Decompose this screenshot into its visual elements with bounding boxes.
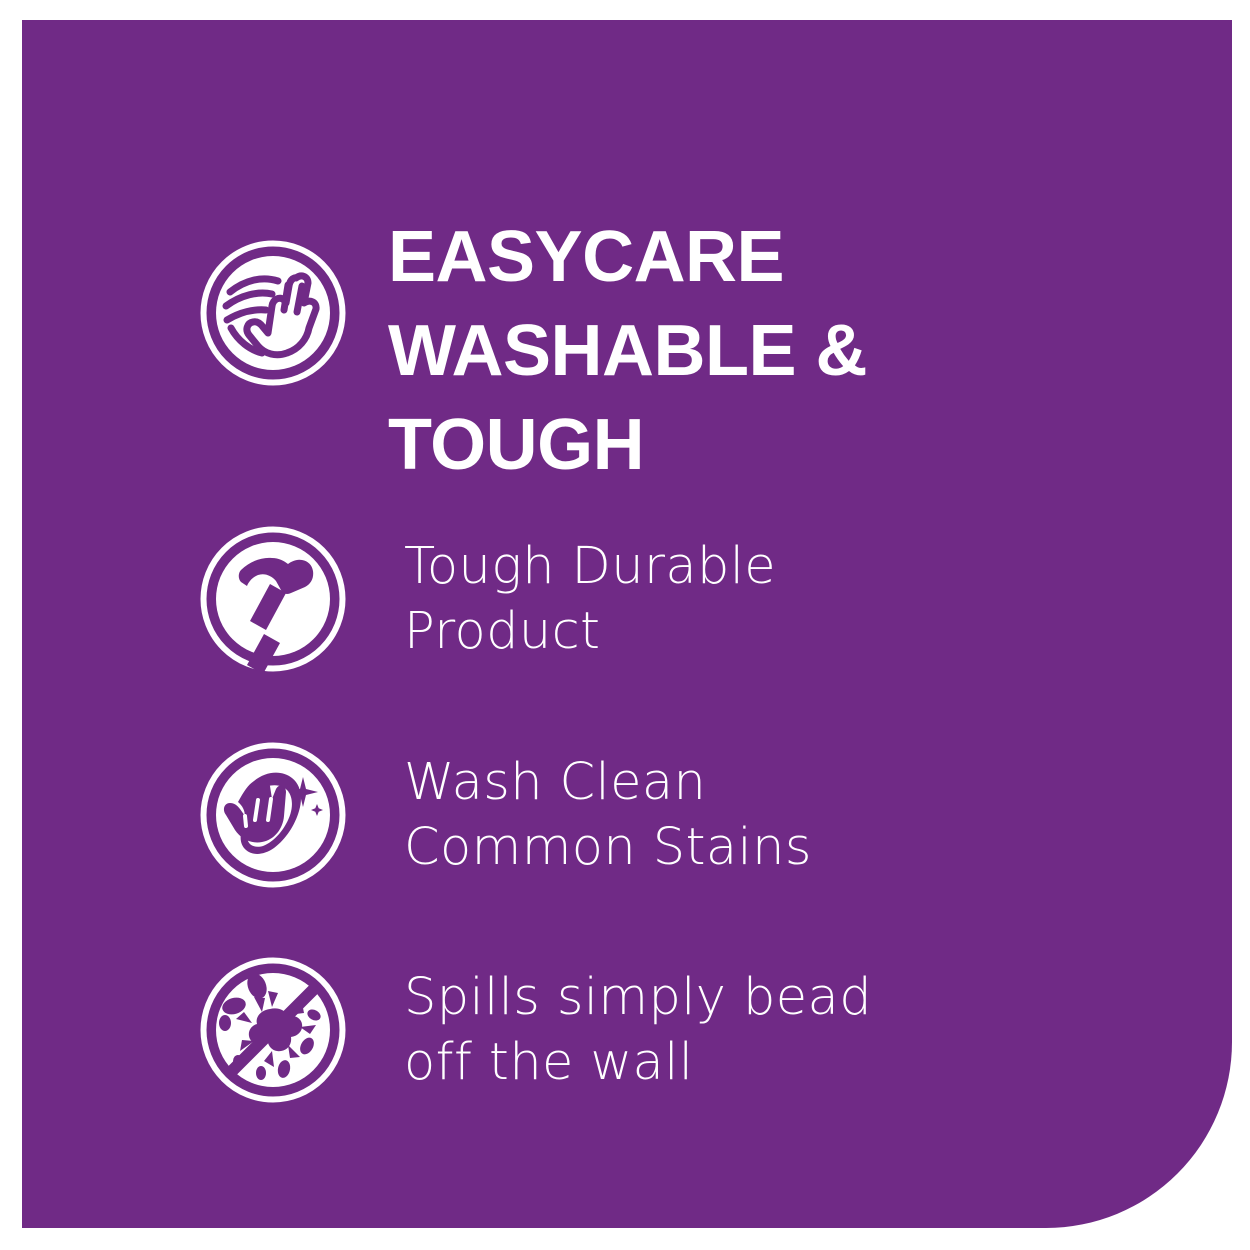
- feature-row: Spills simply bead off the wall: [200, 955, 1200, 1105]
- feature-row: Tough Durable Product: [200, 524, 1200, 674]
- hammer-icon: [200, 526, 346, 672]
- feature-label: Tough Durable Product: [404, 534, 776, 664]
- page-title: EASYCARE WASHABLE & TOUGH: [388, 210, 1108, 492]
- no-splatter-icon: [200, 957, 346, 1103]
- feature-row: Wash Clean Common Stains: [200, 740, 1200, 890]
- feature-panel: EASYCARE WASHABLE & TOUGH Tough Durable …: [22, 20, 1232, 1228]
- feature-label: Spills simply bead off the wall: [404, 965, 872, 1095]
- feature-label: Wash Clean Common Stains: [404, 750, 812, 880]
- hand-washing-icon: [200, 240, 346, 386]
- hand-wiping-sparkle-icon: [200, 742, 346, 888]
